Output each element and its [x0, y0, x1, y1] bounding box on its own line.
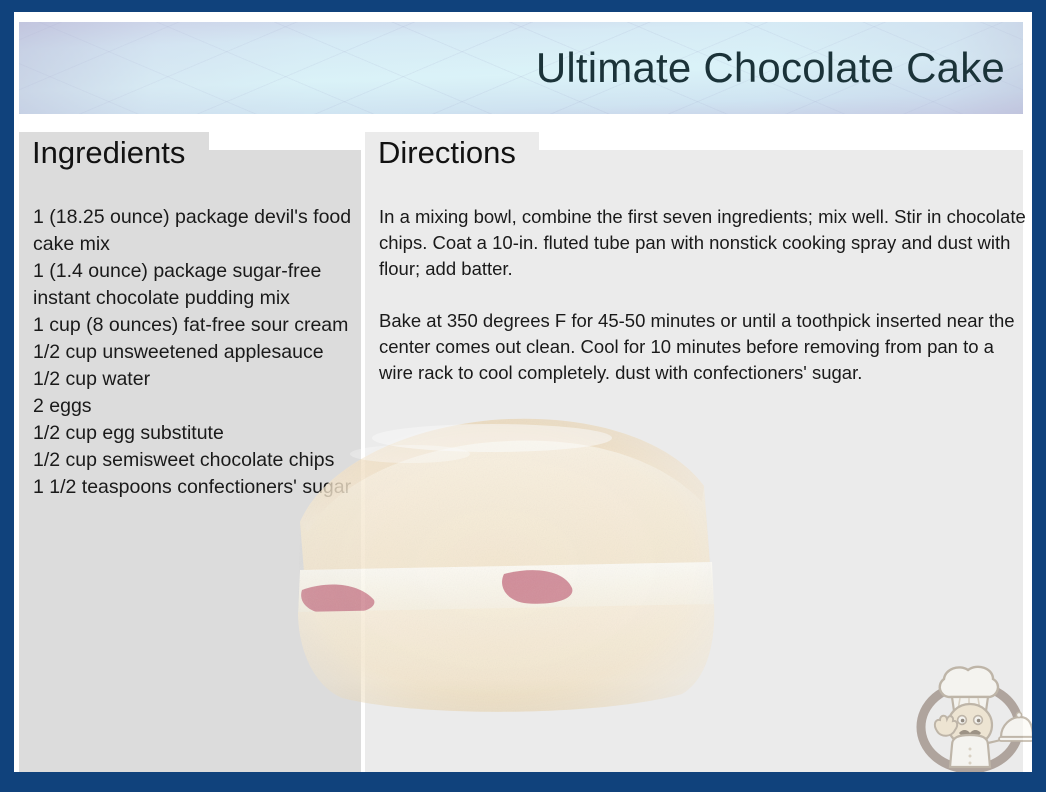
- directions-section-tab: Directions: [365, 132, 539, 172]
- list-item: 1/2 cup water: [33, 366, 363, 393]
- list-item: 1/2 cup egg substitute: [33, 420, 363, 447]
- cloche-base: [999, 737, 1032, 741]
- list-item: 1 cup (8 ounces) fat-free sour cream: [33, 312, 363, 339]
- cloche-dome: [1001, 717, 1032, 737]
- ingredients-section-tab: Ingredients: [19, 132, 209, 172]
- page-title: Ultimate Chocolate Cake: [536, 44, 1005, 92]
- list-item: 2 eggs: [33, 393, 363, 420]
- directions-text: In a mixing bowl, combine the first seve…: [379, 204, 1029, 386]
- header-banner: Ultimate Chocolate Cake: [19, 22, 1023, 114]
- chef-hat: [940, 667, 998, 697]
- list-item: 1 (1.4 ounce) package sugar-free instant…: [33, 258, 363, 312]
- directions-paragraph: Bake at 350 degrees F for 45-50 minutes …: [379, 308, 1029, 386]
- ingredients-heading: Ingredients: [32, 137, 185, 168]
- chef-logo-icon: [907, 653, 1032, 772]
- directions-heading: Directions: [378, 137, 516, 168]
- list-item: 1 1/2 teaspoons confectioners' sugar: [33, 474, 363, 501]
- recipe-page: Ultimate Chocolate Cake Ingredients Dire…: [14, 12, 1032, 772]
- directions-paragraph: In a mixing bowl, combine the first seve…: [379, 204, 1029, 282]
- list-item: 1/2 cup unsweetened applesauce: [33, 339, 363, 366]
- list-item: 1 (18.25 ounce) package devil's food cak…: [33, 204, 363, 258]
- list-item: 1/2 cup semisweet chocolate chips: [33, 447, 363, 474]
- recipe-card: Ultimate Chocolate Cake Ingredients Dire…: [0, 0, 1046, 792]
- ingredients-list: 1 (18.25 ounce) package devil's food cak…: [33, 204, 363, 501]
- chef-hand: [935, 716, 957, 736]
